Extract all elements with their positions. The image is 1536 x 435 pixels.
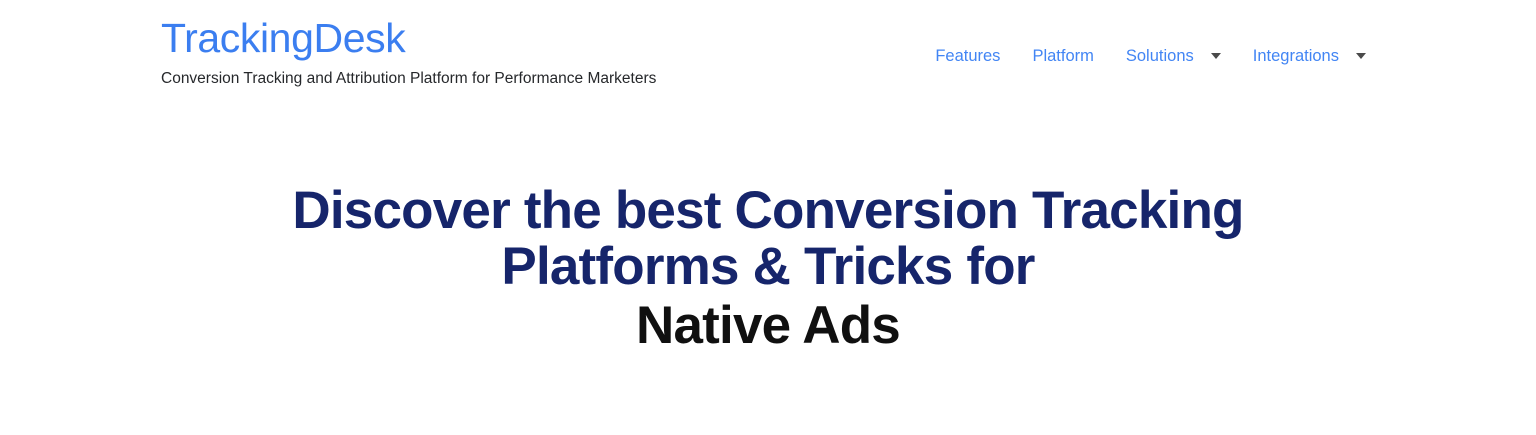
chevron-down-icon[interactable]	[1356, 53, 1366, 59]
nav-item-label: Solutions	[1126, 45, 1194, 67]
nav-item-label: Platform	[1032, 45, 1093, 67]
main-navigation: Features Platform Solutions Integrations	[935, 45, 1366, 67]
nav-item-solutions[interactable]: Solutions	[1126, 45, 1221, 67]
nav-item-label: Integrations	[1253, 45, 1339, 67]
site-logo[interactable]: TrackingDesk	[161, 14, 656, 62]
nav-item-features[interactable]: Features	[935, 45, 1000, 67]
site-header: TrackingDesk Conversion Tracking and Att…	[0, 0, 1536, 110]
page-title-line-2: Tricks for	[804, 237, 1035, 296]
hero-section: Discover the best Conversion Tracking Pl…	[0, 183, 1536, 354]
page-root: TrackingDesk Conversion Tracking and Att…	[0, 0, 1536, 435]
page-title: Discover the best Conversion Tracking Pl…	[188, 183, 1348, 354]
nav-item-platform[interactable]: Platform	[1032, 45, 1093, 67]
nav-item-integrations[interactable]: Integrations	[1253, 45, 1366, 67]
chevron-down-icon[interactable]	[1211, 53, 1221, 59]
brand-block: TrackingDesk Conversion Tracking and Att…	[161, 14, 656, 89]
page-title-line-1: Discover the best Conversion Tracking Pl…	[292, 181, 1243, 296]
nav-item-label: Features	[935, 45, 1000, 67]
site-tagline: Conversion Tracking and Attribution Plat…	[161, 69, 656, 89]
page-title-line-3: Native Ads	[188, 298, 1348, 354]
